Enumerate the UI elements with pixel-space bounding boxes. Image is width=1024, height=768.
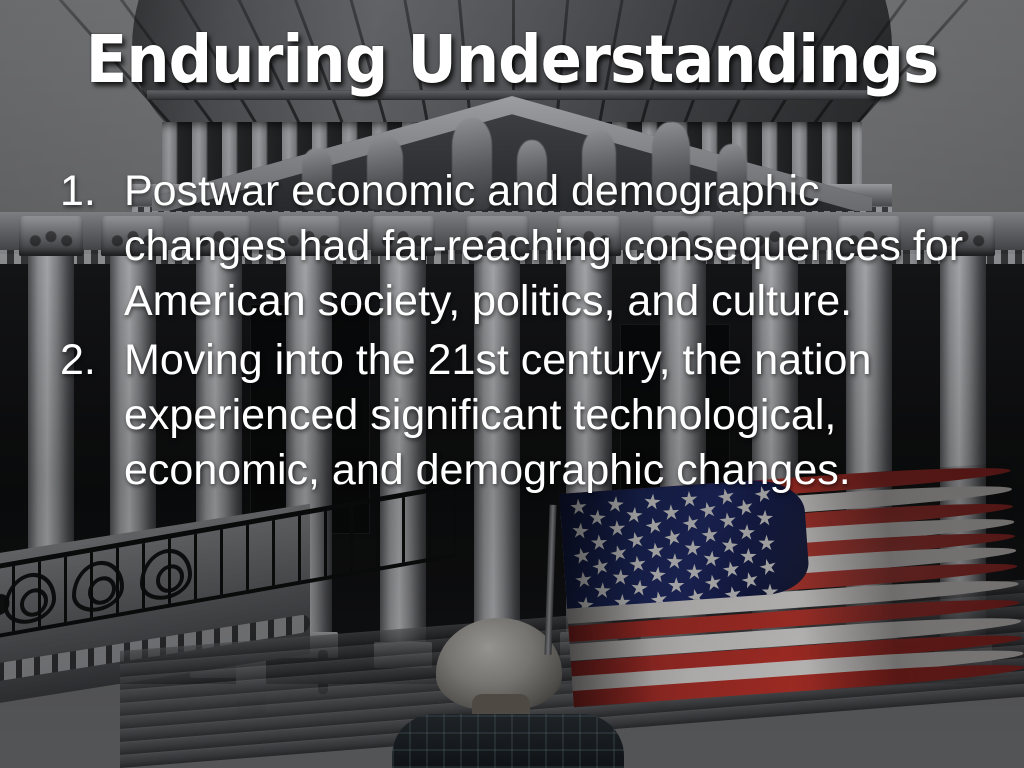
enduring-understandings-list: 1. Postwar economic and demographic chan… [54, 164, 984, 498]
slide-content: Enduring Understandings 1. Postwar econo… [0, 0, 1024, 768]
list-item-marker: 1. [54, 164, 124, 329]
slide-title: Enduring Understandings [41, 26, 983, 93]
list-item: 2. Moving into the 21st century, the nat… [54, 333, 984, 498]
list-item: 1. Postwar economic and demographic chan… [54, 164, 984, 329]
list-item-text: Moving into the 21st century, the nation… [124, 333, 984, 498]
presentation-slide: Enduring Understandings 1. Postwar econo… [0, 0, 1024, 768]
list-item-text: Postwar economic and demographic changes… [124, 164, 984, 329]
list-item-marker: 2. [54, 333, 124, 498]
